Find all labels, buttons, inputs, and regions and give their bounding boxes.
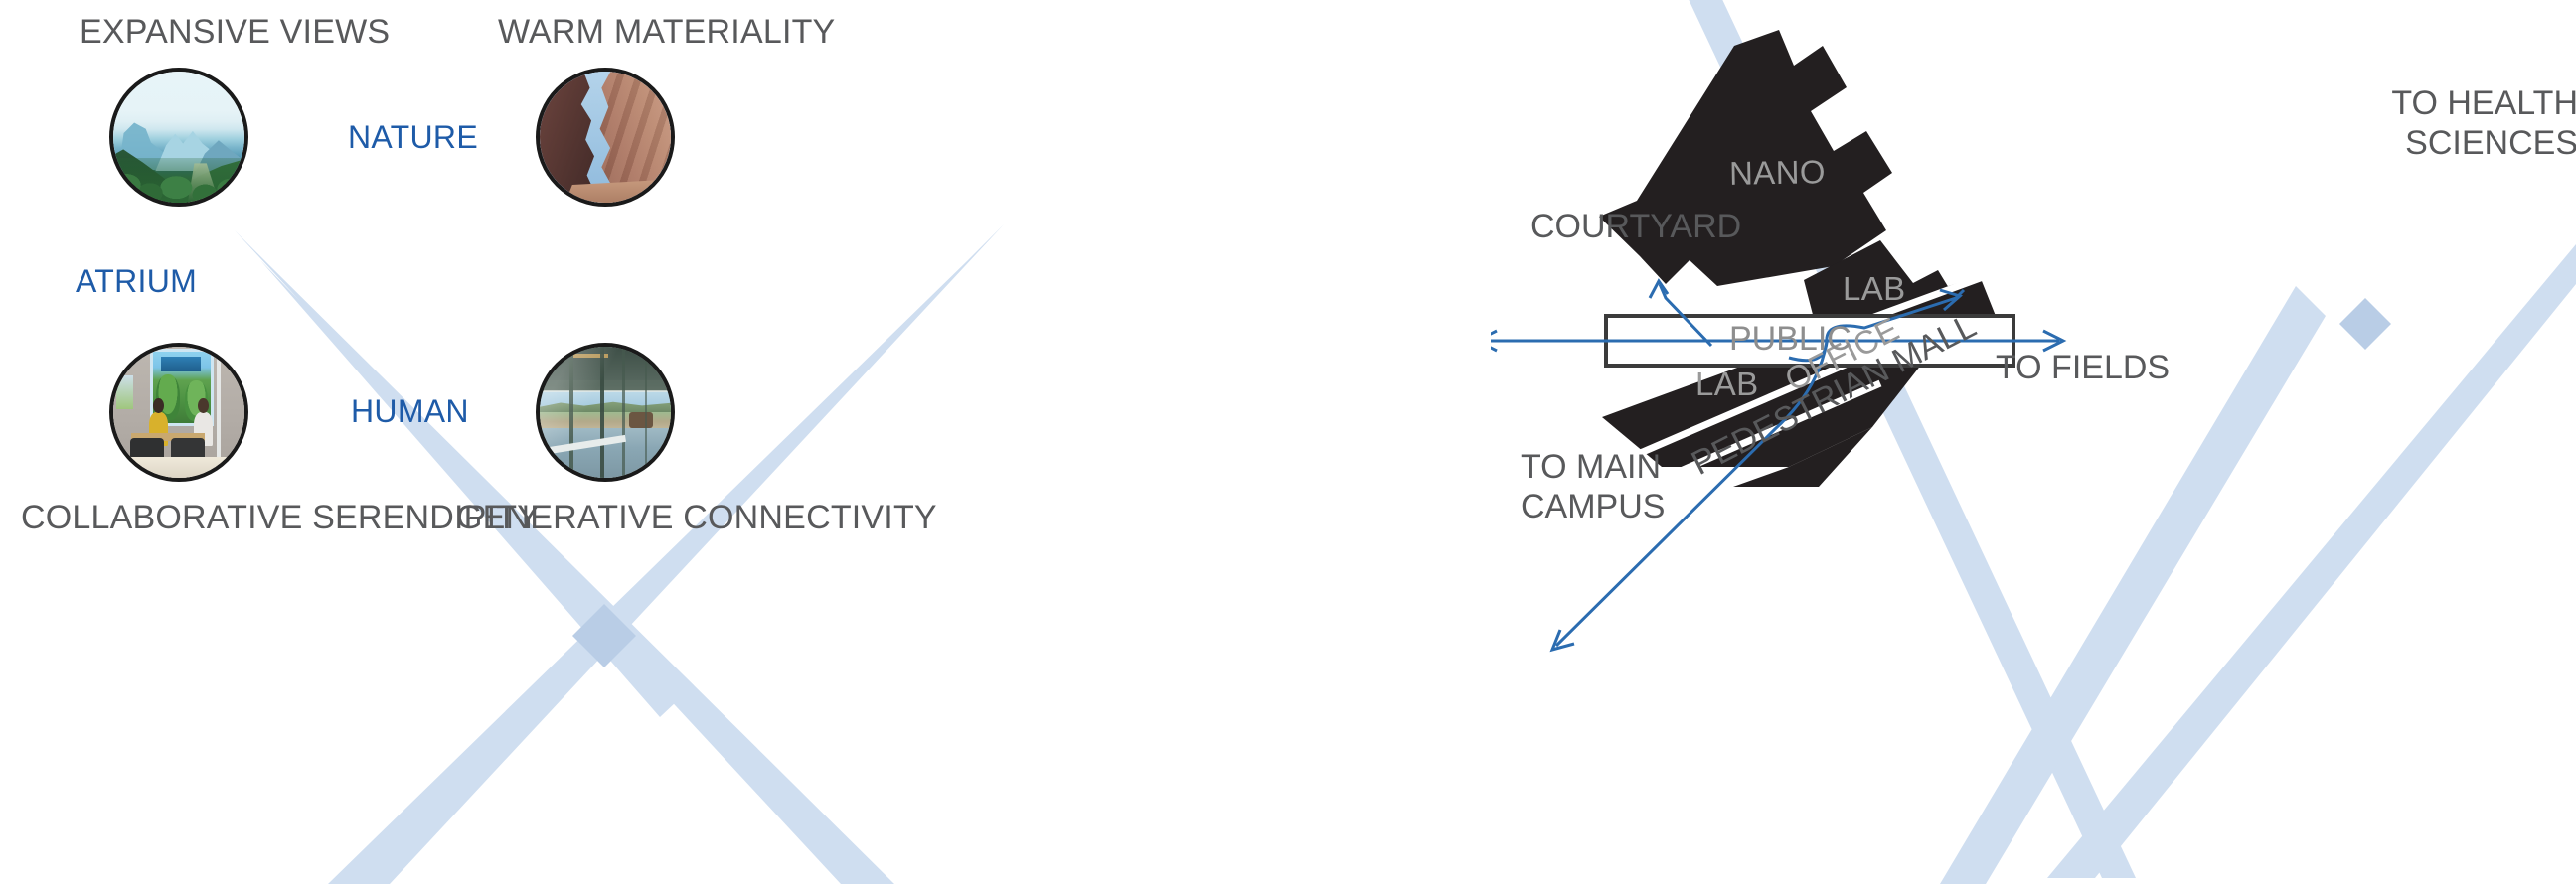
context-label-to-health-sciences: TO HEALTH SCIENCES bbox=[2391, 83, 2576, 163]
to-main-campus-line2: CAMPUS bbox=[1521, 487, 1665, 526]
axis-label-nature: NATURE bbox=[348, 119, 478, 156]
to-health-sciences-line1: TO HEALTH bbox=[2391, 83, 2576, 123]
axis-label-human: HUMAN bbox=[351, 393, 469, 430]
to-health-sciences-line2: SCIENCES bbox=[2391, 123, 2576, 163]
site-massing-plan: NANO LAB LAB OFFICE PUBLIC COURTYARD TO … bbox=[1491, 0, 2576, 884]
concept-quadrant-diagram: EXPANSIVE VIEWS WARM MATERIALITY COLLABO… bbox=[0, 0, 1491, 884]
mass-label-lab-upper: LAB bbox=[1843, 270, 1906, 308]
photo-generative-connectivity bbox=[536, 343, 675, 482]
to-main-campus-line1: TO MAIN bbox=[1521, 447, 1665, 487]
context-label-to-main-campus: TO MAIN CAMPUS bbox=[1521, 447, 1665, 526]
caption-warm-materiality: WARM MATERIALITY bbox=[498, 13, 835, 52]
diagram-page: EXPANSIVE VIEWS WARM MATERIALITY COLLABO… bbox=[0, 0, 2576, 884]
caption-generative-connectivity: GENERATIVE CONNECTIVITY bbox=[456, 499, 937, 537]
photo-expansive-views bbox=[109, 68, 248, 207]
caption-expansive-views: EXPANSIVE VIEWS bbox=[80, 13, 390, 52]
context-label-to-fields: TO FIELDS bbox=[1996, 349, 2170, 387]
public-bar-label: PUBLIC bbox=[1729, 320, 1851, 359]
mass-label-lab-lower: LAB bbox=[1695, 366, 1759, 403]
context-label-courtyard: COURTYARD bbox=[1530, 208, 1741, 246]
mass-label-nano: NANO bbox=[1729, 153, 1827, 193]
photo-collaborative-serendipity bbox=[109, 343, 248, 482]
axis-label-atrium: ATRIUM bbox=[76, 263, 197, 300]
band-to-health-sciences bbox=[2047, 244, 2576, 878]
photo-warm-materiality bbox=[536, 68, 675, 207]
